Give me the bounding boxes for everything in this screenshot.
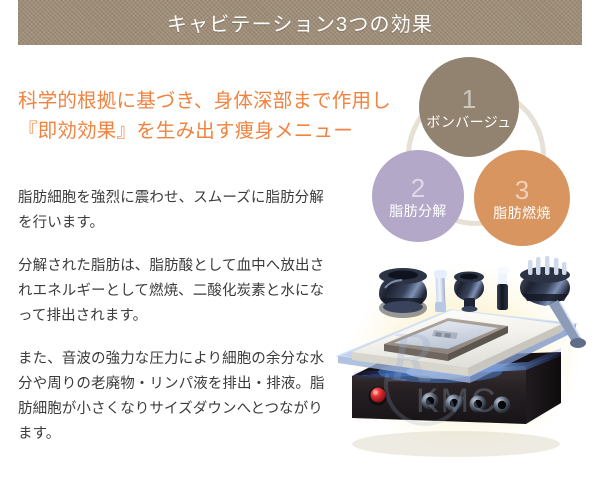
effect-circle-2-label: 脂肪分解 bbox=[389, 204, 447, 218]
body-paragraph-1: 脂肪細胞を強烈に震わせ、スムーズに脂肪分解を行います。 bbox=[18, 186, 336, 236]
device-shadow bbox=[352, 431, 560, 457]
lead-heading: 科学的根拠に基づき、身体深部まで作用し 『即効効果』を生み出す痩身メニュー bbox=[18, 86, 368, 146]
handpiece-rod-2 bbox=[497, 267, 509, 310]
infographic-page: キャビテーション3つの効果 科学的根拠に基づき、身体深部まで作用し 『即効効果』… bbox=[0, 0, 600, 481]
effect-circle-3: 3 脂肪燃焼 bbox=[474, 150, 570, 246]
page-title: キャビテーション3つの効果 bbox=[167, 8, 433, 37]
lead-heading-line-2: 『即効効果』を生み出す痩身メニュー bbox=[18, 116, 368, 146]
effect-circle-3-label: 脂肪燃焼 bbox=[493, 206, 551, 220]
body-paragraph-2: 分解された脂肪は、脂肪酸として血中へ放出されエネルギーとして燃焼、二酸化炭素と水… bbox=[18, 254, 336, 329]
effect-circle-1-number: 1 bbox=[462, 86, 476, 112]
handpiece-rod-1 bbox=[434, 270, 447, 312]
power-button bbox=[371, 388, 386, 403]
device-photo: R KMC bbox=[330, 248, 600, 481]
body-paragraph-3: また、音波の強力な圧力により細胞の余分な水分や周りの老廃物・リンパ液を排出・排液… bbox=[18, 347, 336, 447]
cavitation-machine-illustration bbox=[330, 248, 600, 481]
effect-circle-1-label: ボンバージュ bbox=[426, 115, 511, 129]
effect-circle-3-number: 3 bbox=[515, 177, 529, 203]
effect-circle-2: 2 脂肪分解 bbox=[372, 150, 464, 242]
effect-circle-1: 1 ボンバージュ bbox=[419, 57, 519, 157]
lead-heading-line-1: 科学的根拠に基づき、身体深部まで作用し bbox=[18, 86, 368, 116]
body-copy: 脂肪細胞を強烈に震わせ、スムーズに脂肪分解を行います。 分解された脂肪は、脂肪酸… bbox=[18, 186, 336, 465]
handpiece-rf-probe-small bbox=[454, 272, 484, 313]
header-bar: キャビテーション3つの効果 bbox=[18, 0, 582, 45]
effect-circle-2-number: 2 bbox=[411, 175, 425, 201]
handpiece-cavitation-probe bbox=[379, 268, 427, 318]
effect-circle-cluster: 1 ボンバージュ 2 脂肪分解 3 脂肪燃焼 bbox=[368, 50, 600, 242]
